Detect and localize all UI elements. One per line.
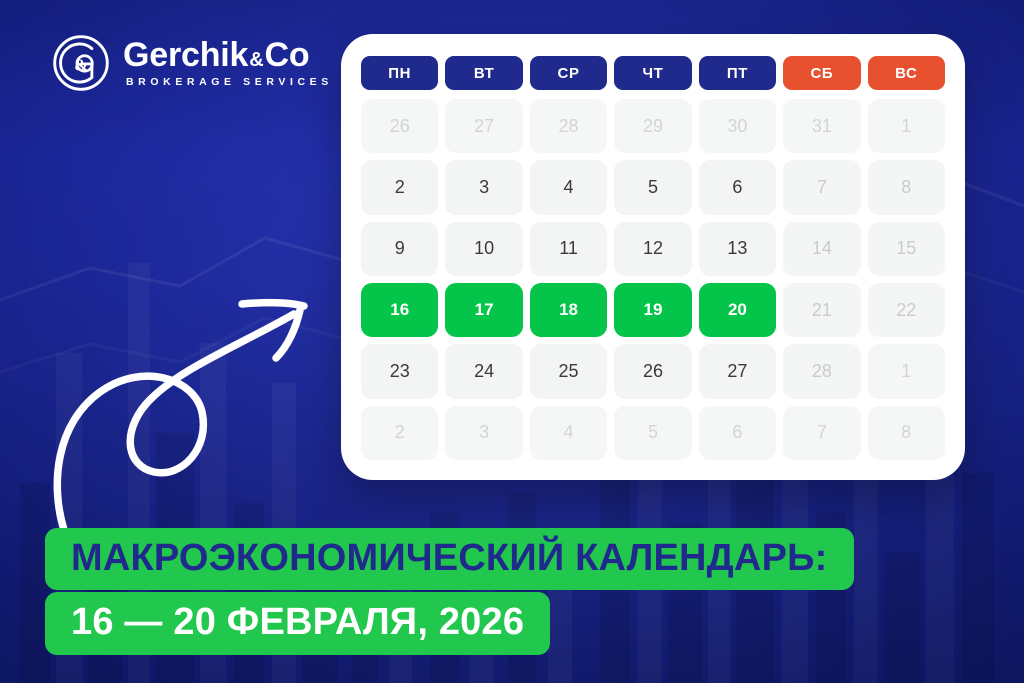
calendar-day-cell[interactable]: 6 bbox=[699, 406, 776, 460]
brand-name: Gerchik&Co bbox=[123, 38, 333, 72]
calendar-day-cell[interactable]: 7 bbox=[783, 160, 860, 214]
calendar-day-cell-selected[interactable]: 17 bbox=[445, 283, 522, 337]
calendar-day-cell[interactable]: 15 bbox=[868, 222, 945, 276]
calendar-day-cell[interactable]: 26 bbox=[361, 99, 438, 153]
hand-drawn-loop-arrow-icon bbox=[42, 272, 342, 532]
calendar-day-cell[interactable]: 26 bbox=[614, 344, 691, 398]
calendar-day-cell-selected[interactable]: 19 bbox=[614, 283, 691, 337]
calendar-card: ПНВТСРЧТПТСБВС 2627282930311234567891011… bbox=[341, 34, 965, 480]
calendar-day-cell[interactable]: 5 bbox=[614, 160, 691, 214]
brand-name-part1: Gerchik bbox=[123, 36, 248, 74]
calendar-day-cell[interactable]: 22 bbox=[868, 283, 945, 337]
calendar-day-header-3: ЧТ bbox=[614, 56, 691, 90]
calendar-day-cell[interactable]: 29 bbox=[614, 99, 691, 153]
calendar-day-cell[interactable]: 25 bbox=[530, 344, 607, 398]
calendar-day-cell[interactable]: 4 bbox=[530, 160, 607, 214]
svg-text:&: & bbox=[74, 55, 88, 74]
calendar-weeks: 2627282930311234567891011121314151617181… bbox=[361, 99, 945, 460]
calendar-week-row: 2627282930311 bbox=[361, 99, 945, 153]
calendar-day-cell-selected[interactable]: 20 bbox=[699, 283, 776, 337]
calendar-day-cell[interactable]: 8 bbox=[868, 160, 945, 214]
calendar-day-cell[interactable]: 3 bbox=[445, 160, 522, 214]
calendar-day-cell[interactable]: 1 bbox=[868, 344, 945, 398]
bottom-banner: МАКРОЭКОНОМИЧЕСКИЙ КАЛЕНДАРЬ: 16 — 20 ФЕ… bbox=[45, 528, 1024, 655]
calendar-day-cell[interactable]: 27 bbox=[699, 344, 776, 398]
calendar-day-cell[interactable]: 2 bbox=[361, 406, 438, 460]
calendar-day-cell[interactable]: 28 bbox=[530, 99, 607, 153]
calendar-day-cell-selected[interactable]: 16 bbox=[361, 283, 438, 337]
calendar-day-cell[interactable]: 24 bbox=[445, 344, 522, 398]
calendar-day-cell[interactable]: 11 bbox=[530, 222, 607, 276]
calendar-day-header-5: СБ bbox=[783, 56, 860, 90]
calendar-day-header-1: ВТ bbox=[445, 56, 522, 90]
calendar-day-cell[interactable]: 9 bbox=[361, 222, 438, 276]
calendar-day-cell[interactable]: 21 bbox=[783, 283, 860, 337]
calendar-day-cell[interactable]: 3 bbox=[445, 406, 522, 460]
calendar-day-cell[interactable]: 10 bbox=[445, 222, 522, 276]
calendar-day-cell-selected[interactable]: 18 bbox=[530, 283, 607, 337]
calendar-day-header-2: СР bbox=[530, 56, 607, 90]
banner-title: МАКРОЭКОНОМИЧЕСКИЙ КАЛЕНДАРЬ: bbox=[45, 528, 854, 590]
calendar-week-row: 2324252627281 bbox=[361, 344, 945, 398]
calendar-week-row: 9101112131415 bbox=[361, 222, 945, 276]
gerchik-monogram-icon: & bbox=[52, 34, 110, 92]
calendar-day-cell[interactable]: 31 bbox=[783, 99, 860, 153]
calendar-day-header-0: ПН bbox=[361, 56, 438, 90]
calendar-day-cell[interactable]: 6 bbox=[699, 160, 776, 214]
brand-logo: & Gerchik&Co BROKERAGE SERVICES bbox=[52, 34, 333, 92]
calendar-day-cell[interactable]: 8 bbox=[868, 406, 945, 460]
calendar-week-row: 2345678 bbox=[361, 160, 945, 214]
calendar-day-cell[interactable]: 13 bbox=[699, 222, 776, 276]
brand-wordmark: Gerchik&Co BROKERAGE SERVICES bbox=[123, 38, 333, 88]
calendar-day-cell[interactable]: 12 bbox=[614, 222, 691, 276]
calendar-day-cell[interactable]: 14 bbox=[783, 222, 860, 276]
calendar-day-headers: ПНВТСРЧТПТСБВС bbox=[361, 56, 945, 90]
calendar-day-cell[interactable]: 7 bbox=[783, 406, 860, 460]
brand-name-ampersand: & bbox=[248, 49, 264, 71]
banner-dates: 16 — 20 ФЕВРАЛЯ, 2026 bbox=[45, 592, 550, 655]
calendar-day-cell[interactable]: 1 bbox=[868, 99, 945, 153]
brand-tagline: BROKERAGE SERVICES bbox=[123, 77, 333, 88]
calendar-day-header-4: ПТ bbox=[699, 56, 776, 90]
calendar-day-cell[interactable]: 2 bbox=[361, 160, 438, 214]
calendar-day-cell[interactable]: 30 bbox=[699, 99, 776, 153]
calendar-day-cell[interactable]: 23 bbox=[361, 344, 438, 398]
calendar-day-cell[interactable]: 4 bbox=[530, 406, 607, 460]
calendar-week-row: 2345678 bbox=[361, 406, 945, 460]
calendar-day-cell[interactable]: 28 bbox=[783, 344, 860, 398]
calendar-day-cell[interactable]: 27 bbox=[445, 99, 522, 153]
calendar-day-cell[interactable]: 5 bbox=[614, 406, 691, 460]
calendar-day-header-6: ВС bbox=[868, 56, 945, 90]
brand-name-part2: Co bbox=[264, 36, 309, 74]
calendar-week-row: 16171819202122 bbox=[361, 283, 945, 337]
